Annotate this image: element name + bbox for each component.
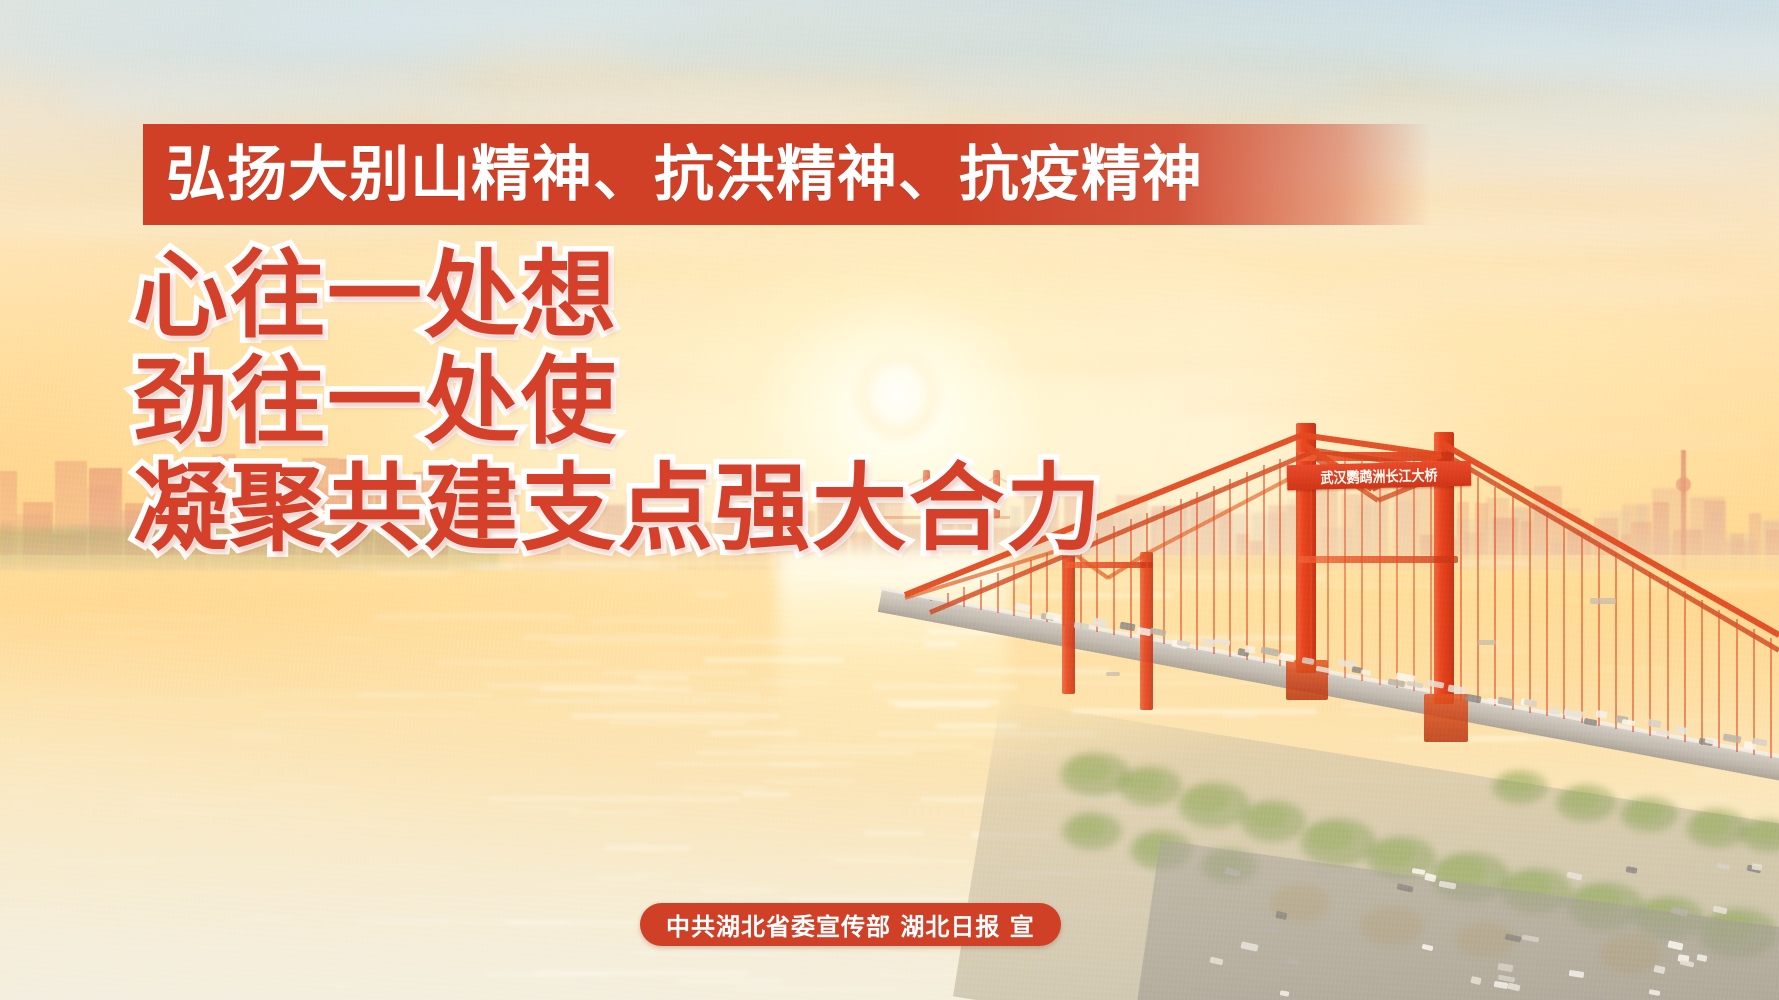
headline-block: 心往一处想 劲往一处使 凝聚共建支点强大合力	[133, 243, 1103, 562]
attribution-badge-text: 中共湖北省委宣传部 湖北日报 宣	[666, 907, 1035, 942]
header-banner: 弘扬大别山精神、抗洪精神、抗疫精神	[143, 124, 1431, 225]
headline-line-1: 心往一处想	[133, 243, 1103, 349]
bridge-name-sign: 武汉鹦鹉洲长江大桥	[1287, 461, 1472, 490]
headline-line-3: 凝聚共建支点强大合力	[133, 456, 1103, 562]
header-banner-text: 弘扬大别山精神、抗洪精神、抗疫精神	[166, 145, 1203, 205]
attribution-badge: 中共湖北省委宣传部 湖北日报 宣	[640, 903, 1061, 946]
headline-line-2: 劲往一处使	[133, 349, 1103, 455]
poster-canvas: 武汉鹦鹉洲长江大桥 弘扬大别山精神、抗洪精神、抗疫精神 心往一处想 劲往一处使 …	[0, 0, 1779, 1000]
bridge-name-sign-text: 武汉鹦鹉洲长江大桥	[1320, 463, 1438, 488]
